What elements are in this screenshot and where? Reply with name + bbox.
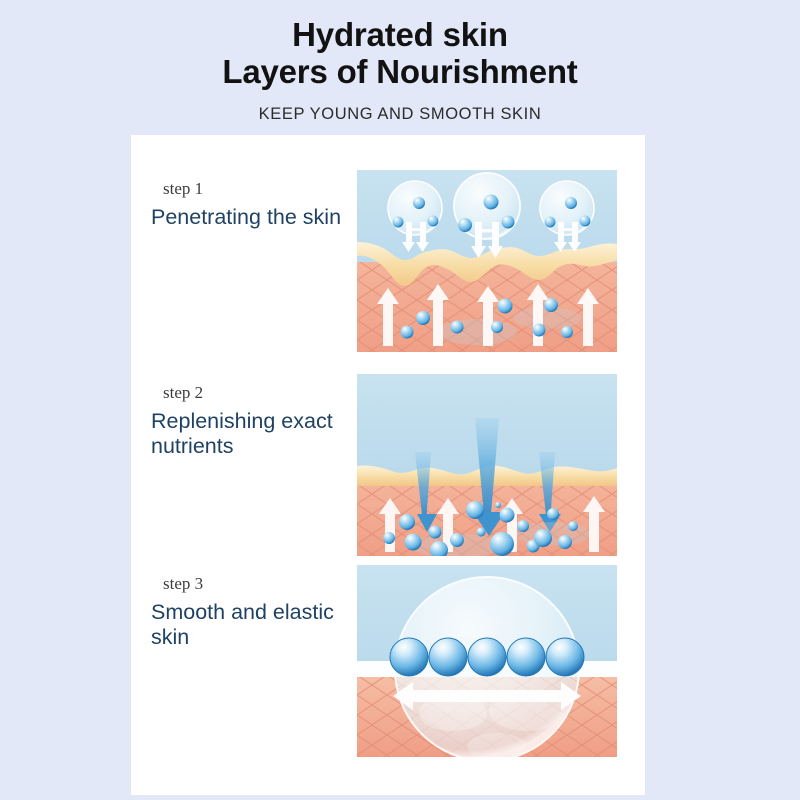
step-3-title: Smooth and elastic skin <box>151 600 361 650</box>
step-2-text: step 2 Replenishing exact nutrients <box>151 382 361 459</box>
step-1-title: Penetrating the skin <box>151 205 361 230</box>
step-3-illustration <box>357 565 617 757</box>
content-card: step 1 Penetrating the skin <box>131 135 645 795</box>
step-1-number: step 1 <box>163 178 361 200</box>
step-2-number: step 2 <box>163 382 361 404</box>
step-row-1: step 1 Penetrating the skin <box>131 170 645 362</box>
step-1-text: step 1 Penetrating the skin <box>151 178 361 230</box>
title-line-2: Layers of Nourishment <box>0 53 800 90</box>
step-2-illustration <box>357 374 617 556</box>
title-line-1: Hydrated skin <box>0 16 800 53</box>
step-3-text: step 3 Smooth and elastic skin <box>151 573 361 650</box>
step-3-number: step 3 <box>163 573 361 595</box>
step-2-title: Replenishing exact nutrients <box>151 409 361 459</box>
page-subtitle: KEEP YOUNG AND SMOOTH SKIN <box>0 90 800 124</box>
step-row-2: step 2 Replenishing exact nutrients <box>131 374 645 566</box>
step-row-3: step 3 Smooth and elastic skin <box>131 565 645 765</box>
header: Hydrated skin Layers of Nourishment KEEP… <box>0 0 800 124</box>
step-1-illustration <box>357 170 617 352</box>
page-title: Hydrated skin Layers of Nourishment <box>0 0 800 90</box>
